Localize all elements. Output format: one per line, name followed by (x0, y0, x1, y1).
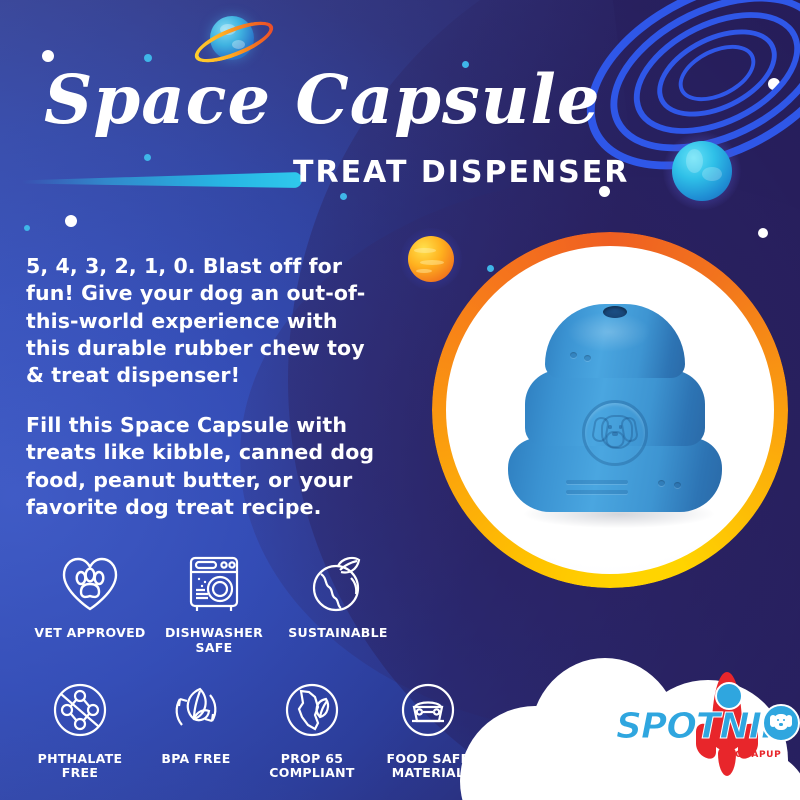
orange-planet-band (416, 269, 432, 273)
leaf-cycle-icon (166, 674, 226, 746)
capsule-dimple (584, 355, 591, 361)
page-title: Space Capsule (44, 66, 601, 133)
dog-face-icon (593, 413, 637, 453)
dog-head (774, 714, 788, 730)
page-subtitle: TREAT DISPENSER (293, 155, 629, 190)
capsule-vent-line (566, 490, 628, 494)
badge-sustainable: SUSTAINABLE (276, 548, 400, 656)
badge-row-1: VET APPROVED (0, 548, 500, 656)
description-paragraph-2: Fill this Space Capsule with treats like… (26, 412, 386, 521)
heart-paw-icon (59, 548, 121, 620)
badge-prop-65-compliant: PROP 65 COMPLIANT (254, 674, 370, 782)
product-marketing-banner: Space Capsule TREAT DISPENSER 5, 4, 3, 2… (0, 0, 800, 800)
brand-tagline: BY SODAPUP (728, 740, 796, 760)
badge-row-2: PHTHALATE FREE BPA FREE (0, 674, 500, 782)
dog-eye-right (783, 719, 785, 721)
capsule-treat-hole (603, 306, 627, 318)
badge-label: VET APPROVED (34, 626, 145, 641)
star-dot (144, 154, 151, 161)
badge-label: PHTHALATE FREE (22, 752, 138, 782)
badge-vet-approved: VET APPROVED (28, 548, 152, 656)
california-leaf-icon (282, 674, 342, 746)
description-paragraph-1: 5, 4, 3, 2, 1, 0. Blast off for fun! Giv… (26, 253, 386, 389)
dog-bowl-icon (398, 674, 458, 746)
capsule-dog-emblem (582, 400, 648, 466)
globe-leaf-icon (307, 548, 369, 620)
badge-phthalate-free: PHTHALATE FREE (22, 674, 138, 782)
dog-nose (779, 723, 783, 726)
feature-badges: VET APPROVED (0, 548, 500, 781)
star-dot (24, 225, 30, 231)
badge-bpa-free: BPA FREE (138, 674, 254, 782)
badge-dishwasher-safe: DISHWASHER SAFE (152, 548, 276, 656)
badge-label: DISHWASHER SAFE (152, 626, 276, 656)
dog-face-mark (770, 713, 792, 733)
capsule-dimple (658, 480, 665, 486)
dog-eye-left (608, 425, 612, 429)
badge-label: PROP 65 COMPLIANT (254, 752, 370, 782)
cyan-planet-icon (663, 132, 741, 210)
brand-dog-badge-icon (762, 704, 800, 742)
badge-label: SUSTAINABLE (288, 626, 388, 641)
cyan-planet-core (672, 141, 732, 201)
no-molecule-icon (50, 674, 110, 746)
capsule-highlight (567, 312, 651, 352)
dog-eye-left (777, 719, 779, 721)
space-capsule-toy (506, 304, 724, 514)
badge-label: BPA FREE (161, 752, 230, 767)
star-dot (340, 193, 347, 200)
cyan-planet-swirl (686, 149, 703, 173)
dishwasher-icon (183, 548, 245, 620)
brand-logo: SPOTNIK BY SODAPUP (616, 676, 796, 784)
capsule-vent-line (566, 480, 628, 484)
dog-eye-right (619, 425, 623, 429)
capsule-dimple (570, 352, 577, 358)
star-dot (65, 215, 77, 227)
capsule-dimple (674, 482, 681, 488)
dog-nose (612, 432, 618, 436)
cyan-planet-swirl (702, 167, 722, 181)
